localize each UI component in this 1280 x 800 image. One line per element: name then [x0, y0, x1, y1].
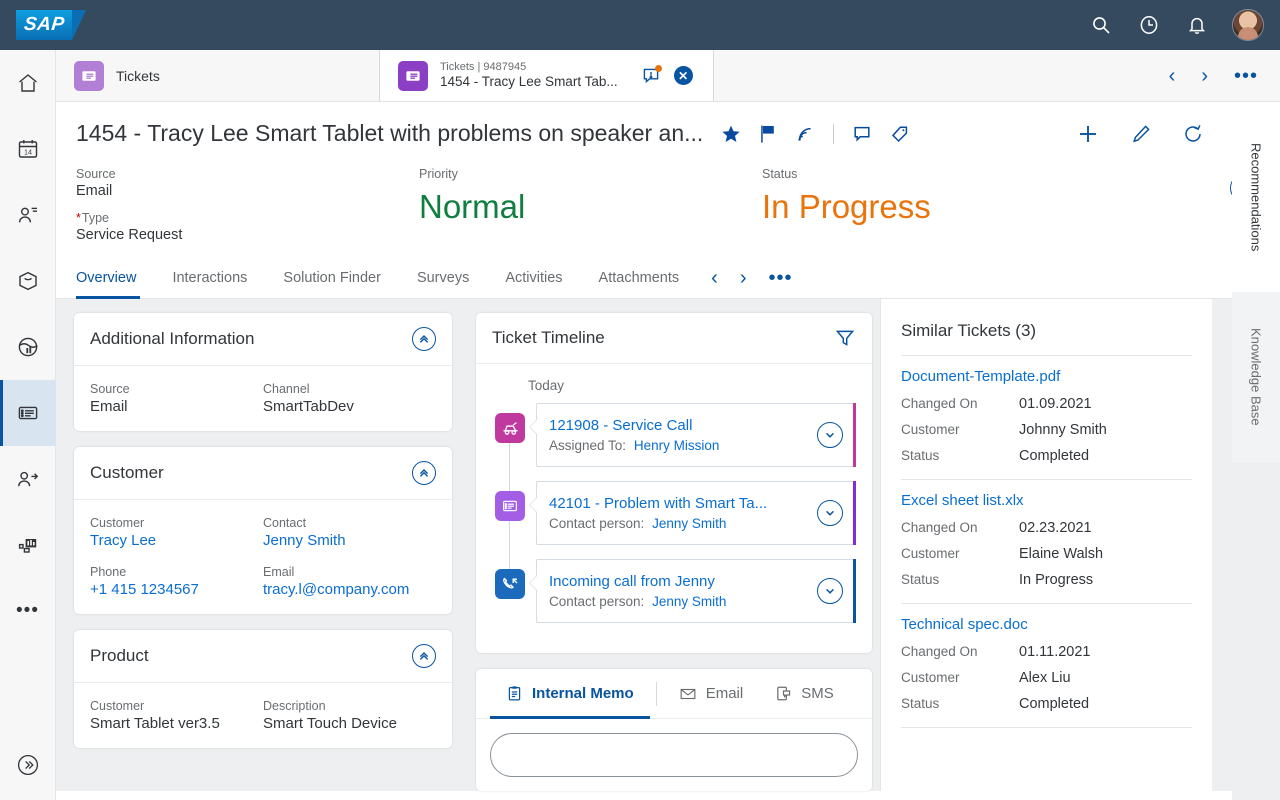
similar-ticket-row: Status Completed: [901, 443, 1192, 469]
avatar[interactable]: [1232, 9, 1264, 41]
header-attributes: Source Email *Type Service Request Prior…: [76, 167, 1260, 257]
side-tab-recommendations[interactable]: Recommendations: [1232, 102, 1280, 292]
card-product: Product Customer Smart Tablet ver3.5: [74, 630, 452, 748]
timeline-item: Incoming call from Jenny Contact person:…: [492, 559, 856, 623]
object-page-header: 1454 - Tracy Lee Smart Tablet with probl…: [56, 102, 1280, 257]
left-navigation-rail: 14: [0, 50, 56, 800]
sms-icon: [775, 685, 792, 702]
similar-ticket-item: Document-Template.pdf Changed On 01.09.2…: [901, 356, 1192, 480]
field-contact: Contact Jenny Smith: [263, 516, 436, 549]
status-badge: In Progress: [762, 187, 1105, 227]
card-title: Product: [90, 646, 149, 666]
tab-prev-button[interactable]: ‹: [1169, 66, 1176, 86]
tab-surveys[interactable]: Surveys: [399, 257, 487, 299]
timeline-meta-value[interactable]: Henry Mission: [634, 438, 720, 453]
app-tab-ticket-1454[interactable]: Tickets | 9487945 1454 - Tracy Lee Smart…: [380, 50, 714, 101]
object-page-body: Additional Information Source Email: [56, 299, 1280, 791]
alert-icon[interactable]: [642, 67, 660, 85]
tab-overflow-button[interactable]: •••: [1234, 70, 1258, 82]
row-label: Status: [901, 567, 1019, 593]
shell-bar-actions: [1088, 9, 1264, 41]
timeline-bubble[interactable]: Incoming call from Jenny Contact person:…: [536, 559, 856, 623]
tabbar-prev-button[interactable]: ‹: [711, 268, 718, 288]
type-value: Service Request: [76, 227, 419, 243]
expand-timeline-item-button[interactable]: [817, 422, 843, 448]
required-asterisk: *: [76, 211, 81, 225]
tab-sms[interactable]: SMS: [759, 669, 850, 719]
tab-label: SMS: [801, 685, 834, 702]
timeline-item-title[interactable]: 42101 - Problem with Smart Ta...: [549, 495, 809, 512]
expand-navigation-button[interactable]: [0, 730, 56, 800]
tag-icon[interactable]: [890, 124, 910, 144]
sidebar-item-leads[interactable]: [0, 446, 56, 512]
middle-column: Ticket Timeline Today: [468, 299, 880, 791]
field-value: SmartTabDev: [263, 398, 436, 415]
timeline-bubble[interactable]: 42101 - Problem with Smart Ta... Contact…: [536, 481, 856, 545]
tab-overview[interactable]: Overview: [76, 257, 154, 299]
field-label: Customer: [90, 699, 263, 713]
tab-label: Internal Memo: [532, 685, 634, 702]
row-label: Changed On: [901, 515, 1019, 541]
collapse-card-button[interactable]: [412, 644, 436, 668]
tab-divider: [656, 682, 657, 706]
similar-ticket-row: Customer Elaine Walsh: [901, 541, 1192, 567]
card-header: Customer: [74, 447, 452, 500]
sidebar-item-calendar[interactable]: 14: [0, 116, 56, 182]
tab-email[interactable]: Email: [663, 669, 760, 719]
timeline-meta-label: Assigned To:: [549, 438, 626, 453]
timeline-meta-value[interactable]: Jenny Smith: [652, 594, 726, 609]
left-column: Additional Information Source Email: [56, 299, 468, 791]
row-label: Customer: [901, 665, 1019, 691]
row-value: 02.23.2021: [1019, 515, 1092, 541]
source-label: Source: [76, 167, 419, 181]
row-value: 01.11.2021: [1019, 639, 1091, 665]
source-value: Email: [76, 183, 419, 199]
card-communication: Internal Memo Email: [476, 669, 872, 791]
tab-attachments[interactable]: Attachments: [581, 257, 698, 299]
timeline-item-meta: Contact person: Jenny Smith: [549, 516, 809, 531]
timeline-rail: [492, 481, 528, 545]
status-label: Status: [762, 167, 1105, 181]
app-tab-tickets[interactable]: Tickets: [56, 50, 380, 101]
object-tab-bar: Overview Interactions Solution Finder Su…: [56, 257, 1280, 299]
sidebar-item-home[interactable]: [0, 50, 56, 116]
field-label: Customer: [90, 516, 263, 530]
tab-strip-navigation: ‹ › •••: [1169, 50, 1280, 101]
object-page: 1454 - Tracy Lee Smart Tablet with probl…: [56, 102, 1280, 800]
timeline-accent-bar: [853, 481, 856, 545]
sidebar-item-tickets[interactable]: [0, 380, 56, 446]
card-title: Additional Information: [90, 329, 254, 349]
side-panel-rail: Recommendations Knowledge Base: [1232, 102, 1280, 800]
field-grid: Customer Tracy Lee Contact Jenny Smith P…: [90, 516, 436, 598]
row-label: Customer: [901, 417, 1019, 443]
expand-timeline-item-button[interactable]: [817, 578, 843, 604]
collapse-card-button[interactable]: [412, 327, 436, 351]
card-header: Additional Information: [74, 313, 452, 366]
sidebar-item-reports[interactable]: [0, 512, 56, 578]
app-tab-subtitle: Tickets | 9487945: [440, 61, 618, 74]
expand-timeline-item-button[interactable]: [817, 500, 843, 526]
row-value: 01.09.2021: [1019, 391, 1092, 417]
communication-body: [476, 719, 872, 791]
field-source: Source Email: [90, 382, 263, 415]
flag-icon[interactable]: [759, 124, 777, 144]
timeline-rail: [492, 403, 528, 467]
app-tab-title: 1454 - Tracy Lee Smart Tab...: [440, 74, 618, 90]
filter-icon[interactable]: [834, 327, 856, 349]
timeline-bubble[interactable]: 121908 - Service Call Assigned To: Henry…: [536, 403, 856, 467]
row-value: Completed: [1019, 443, 1089, 469]
field-label: Phone: [90, 565, 263, 579]
similar-ticket-row: Customer Johnny Smith: [901, 417, 1192, 443]
attribute-source-type: Source Email *Type Service Request: [76, 167, 419, 243]
timeline-texts: Incoming call from Jenny Contact person:…: [549, 573, 809, 609]
service-call-icon: [495, 413, 525, 443]
similar-ticket-row: Changed On 01.09.2021: [901, 391, 1192, 417]
card-ticket-timeline: Ticket Timeline Today: [476, 313, 872, 653]
timeline-texts: 42101 - Problem with Smart Ta... Contact…: [549, 495, 809, 531]
timeline-item: 42101 - Problem with Smart Ta... Contact…: [492, 481, 856, 545]
timeline-day-label: Today: [528, 378, 856, 393]
similar-ticket-row: Customer Alex Liu: [901, 665, 1192, 691]
sap-logo-text: SAP: [23, 14, 66, 36]
clipboard-icon: [506, 685, 523, 702]
app-tab-actions: ✕: [642, 66, 693, 85]
ticket-icon: [495, 491, 525, 521]
more-dots-icon: •••: [16, 605, 39, 616]
sap-logo[interactable]: SAP: [16, 10, 82, 40]
comment-icon[interactable]: [852, 124, 872, 144]
row-label: Changed On: [901, 391, 1019, 417]
row-label: Changed On: [901, 639, 1019, 665]
side-tab-knowledge-base[interactable]: Knowledge Base: [1232, 292, 1280, 462]
timeline-texts: 121908 - Service Call Assigned To: Henry…: [549, 417, 809, 453]
field-label: Email: [263, 565, 436, 579]
similar-ticket-row: Status Completed: [901, 691, 1192, 717]
timeline-accent-bar: [853, 403, 856, 467]
icon-divider: [833, 124, 834, 144]
field-value: Smart Tablet ver3.5: [90, 715, 263, 732]
card-body: Customer Smart Tablet ver3.5 Description…: [74, 683, 452, 748]
incoming-call-icon: [495, 569, 525, 599]
row-value: In Progress: [1019, 567, 1093, 593]
field-channel: Channel SmartTabDev: [263, 382, 436, 415]
row-label: Status: [901, 443, 1019, 469]
communication-tabs: Internal Memo Email: [476, 669, 872, 719]
feed-icon[interactable]: [795, 124, 815, 144]
card-title: Ticket Timeline: [492, 328, 605, 348]
field-customer: Customer Tracy Lee: [90, 516, 263, 549]
shell-bar: SAP: [0, 0, 1280, 50]
field-product-description: Description Smart Touch Device: [263, 699, 436, 732]
tab-solution-finder[interactable]: Solution Finder: [265, 257, 399, 299]
tab-internal-memo[interactable]: Internal Memo: [490, 669, 650, 719]
row-value: Johnny Smith: [1019, 417, 1107, 443]
row-label: Customer: [901, 541, 1019, 567]
priority-value: Normal: [419, 187, 762, 227]
close-tab-button[interactable]: ✕: [674, 66, 693, 85]
similar-ticket-name[interactable]: Document-Template.pdf: [901, 368, 1192, 385]
field-value-link[interactable]: +1 415 1234567: [90, 581, 263, 598]
refresh-icon[interactable]: [1182, 123, 1204, 145]
ticket-tile-icon-active: [398, 61, 428, 91]
history-icon[interactable]: [1136, 12, 1162, 38]
application-tab-strip: Tickets Tickets | 9487945 1454 - Tracy L…: [56, 50, 1280, 102]
field-grid: Customer Smart Tablet ver3.5 Description…: [90, 699, 436, 732]
sidebar-item-products[interactable]: [0, 248, 56, 314]
field-label: Source: [90, 382, 263, 396]
add-icon[interactable]: [1076, 122, 1100, 146]
tabbar-next-button[interactable]: ›: [740, 268, 747, 288]
similar-ticket-row: Changed On 02.23.2021: [901, 515, 1192, 541]
sap-fiori-app: SAP: [0, 0, 1280, 800]
tab-interactions[interactable]: Interactions: [154, 257, 265, 299]
priority-label: Priority: [419, 167, 762, 181]
envelope-icon: [679, 685, 697, 703]
field-label: Description: [263, 699, 436, 713]
row-value: Elaine Walsh: [1019, 541, 1103, 567]
timeline-body: Today: [476, 364, 872, 653]
sidebar-item-more[interactable]: •••: [0, 578, 56, 644]
bell-icon[interactable]: [1184, 12, 1210, 38]
tabbar-overflow-button[interactable]: •••: [768, 272, 792, 284]
card-header: Ticket Timeline: [476, 313, 872, 364]
app-tab-label: Tickets: [116, 68, 160, 84]
search-icon[interactable]: [1088, 12, 1114, 38]
timeline-rail: [492, 559, 528, 623]
similar-ticket-row: Changed On 01.11.2021: [901, 639, 1192, 665]
similar-ticket-item: Technical spec.doc Changed On 01.11.2021…: [901, 604, 1192, 728]
alert-badge: [655, 65, 662, 72]
field-value-link[interactable]: Tracy Lee: [90, 532, 263, 549]
sidebar-item-contacts[interactable]: [0, 182, 56, 248]
field-value-link[interactable]: tracy.l@company.com: [263, 581, 436, 598]
row-value: Alex Liu: [1019, 665, 1071, 691]
card-title: Customer: [90, 463, 164, 483]
timeline-meta-label: Contact person:: [549, 594, 644, 609]
timeline-accent-bar: [853, 559, 856, 623]
tab-bar-navigation: ‹ › •••: [711, 268, 792, 288]
field-value-link[interactable]: Jenny Smith: [263, 532, 436, 549]
ticket-tile-icon: [74, 61, 104, 91]
card-customer: Customer Customer Tracy Lee: [74, 447, 452, 614]
similar-tickets-title: Similar Tickets (3): [901, 299, 1192, 356]
attribute-priority: Priority Normal: [419, 167, 762, 243]
message-input[interactable]: [490, 733, 858, 777]
field-value: Email: [90, 398, 263, 415]
svg-text:14: 14: [24, 147, 32, 156]
attribute-status: Status In Progress: [762, 167, 1105, 243]
timeline-item-meta: Contact person: Jenny Smith: [549, 594, 809, 609]
timeline-item-title[interactable]: 121908 - Service Call: [549, 417, 809, 434]
card-additional-information: Additional Information Source Email: [74, 313, 452, 431]
field-grid: Source Email Channel SmartTabDev: [90, 382, 436, 415]
similar-ticket-row: Status In Progress: [901, 567, 1192, 593]
timeline-item-meta: Assigned To: Henry Mission: [549, 438, 809, 453]
edit-icon[interactable]: [1130, 123, 1152, 145]
card-body: Source Email Channel SmartTabDev: [74, 366, 452, 431]
field-product-customer: Customer Smart Tablet ver3.5: [90, 699, 263, 732]
collapse-card-button[interactable]: [412, 461, 436, 485]
field-value: Smart Touch Device: [263, 715, 436, 732]
timeline-item: 121908 - Service Call Assigned To: Henry…: [492, 403, 856, 467]
favorite-star-icon[interactable]: [721, 124, 741, 144]
timeline-item-title[interactable]: Incoming call from Jenny: [549, 573, 809, 590]
tab-activities[interactable]: Activities: [487, 257, 580, 299]
field-label: Channel: [263, 382, 436, 396]
similar-ticket-name[interactable]: Technical spec.doc: [901, 616, 1192, 633]
field-label: Contact: [263, 516, 436, 530]
sidebar-item-analytics[interactable]: [0, 314, 56, 380]
row-label: Status: [901, 691, 1019, 717]
tab-next-button[interactable]: ›: [1201, 66, 1208, 86]
timeline-meta-label: Contact person:: [549, 516, 644, 531]
page-title: 1454 - Tracy Lee Smart Tablet with probl…: [76, 120, 703, 147]
app-tab-text: Tickets | 9487945 1454 - Tracy Lee Smart…: [440, 61, 618, 90]
header-actions: •••: [1076, 122, 1258, 146]
similar-ticket-name[interactable]: Excel sheet list.xlx: [901, 492, 1192, 509]
field-phone: Phone +1 415 1234567: [90, 565, 263, 598]
side-rail-filler: [1232, 462, 1280, 800]
card-body: Customer Tracy Lee Contact Jenny Smith P…: [74, 500, 452, 614]
row-value: Completed: [1019, 691, 1089, 717]
field-email: Email tracy.l@company.com: [263, 565, 436, 598]
type-label: *Type: [76, 211, 419, 225]
similar-ticket-item: Excel sheet list.xlx Changed On 02.23.20…: [901, 480, 1192, 604]
card-header: Product: [74, 630, 452, 683]
timeline-meta-value[interactable]: Jenny Smith: [652, 516, 726, 531]
title-icon-group: [721, 124, 910, 144]
similar-tickets-panel: Similar Tickets (3) Document-Template.pd…: [880, 299, 1212, 791]
tab-label: Email: [706, 685, 744, 702]
